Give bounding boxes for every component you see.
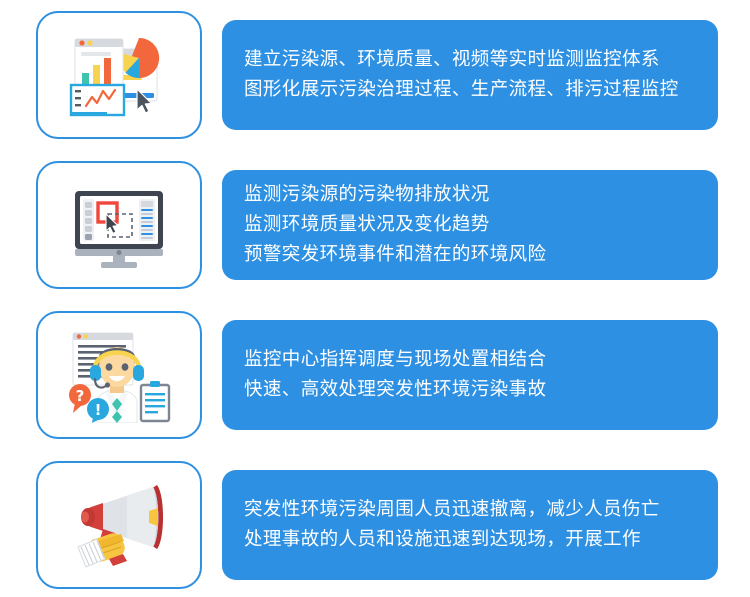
feature-line: 突发性环境污染周围人员迅速撤离，减少人员伤亡 — [244, 495, 718, 525]
desktop-monitor-selection-icon — [65, 177, 173, 273]
icon-card: ? ! — [36, 311, 202, 439]
feature-row: 建立污染源、环境质量、视频等实时监测监控体系 图形化展示污染治理过程、生产流程、… — [0, 0, 750, 150]
feature-text-panel: 监测污染源的污染物排放状况 监测环境质量状况及变化趋势 预警突发环境事件和潜在的… — [222, 170, 718, 280]
svg-text:?: ? — [76, 387, 85, 405]
svg-text:!: ! — [95, 401, 102, 419]
feature-line: 监控中心指挥调度与现场处置相结合 — [244, 345, 718, 375]
feature-line: 监测污染源的污染物排放状况 — [244, 180, 718, 210]
feature-line: 建立污染源、环境质量、视频等实时监测监控体系 — [244, 45, 718, 75]
feature-line: 处理事故的人员和设施迅速到达现场，开展工作 — [244, 525, 718, 555]
feature-line: 监测环境质量状况及变化趋势 — [244, 210, 718, 240]
feature-row: ? ! 监控中心指挥调度与现场处置相 — [0, 300, 750, 450]
support-operator-headset-icon: ? ! — [65, 327, 173, 423]
feature-list-page: 建立污染源、环境质量、视频等实时监测监控体系 图形化展示污染治理过程、生产流程、… — [0, 0, 750, 597]
feature-row: 监测污染源的污染物排放状况 监测环境质量状况及变化趋势 预警突发环境事件和潜在的… — [0, 150, 750, 300]
feature-text-panel: 监控中心指挥调度与现场处置相结合 快速、高效处理突发性环境污染事故 — [222, 320, 718, 430]
icon-card — [36, 161, 202, 289]
feature-line: 预警突发环境事件和潜在的环境风险 — [244, 240, 718, 270]
icon-card — [36, 461, 202, 589]
icon-card — [36, 11, 202, 139]
feature-text-panel: 建立污染源、环境质量、视频等实时监测监控体系 图形化展示污染治理过程、生产流程、… — [222, 20, 718, 130]
feature-line: 图形化展示污染治理过程、生产流程、排污过程监控 — [244, 75, 718, 105]
megaphone-announcement-icon — [65, 477, 173, 573]
feature-text-panel: 突发性环境污染周围人员迅速撤离，减少人员伤亡 处理事故的人员和设施迅速到达现场，… — [222, 470, 718, 580]
dashboard-analytics-icon — [65, 27, 173, 123]
feature-line: 快速、高效处理突发性环境污染事故 — [244, 375, 718, 405]
feature-row: 突发性环境污染周围人员迅速撤离，减少人员伤亡 处理事故的人员和设施迅速到达现场，… — [0, 450, 750, 597]
